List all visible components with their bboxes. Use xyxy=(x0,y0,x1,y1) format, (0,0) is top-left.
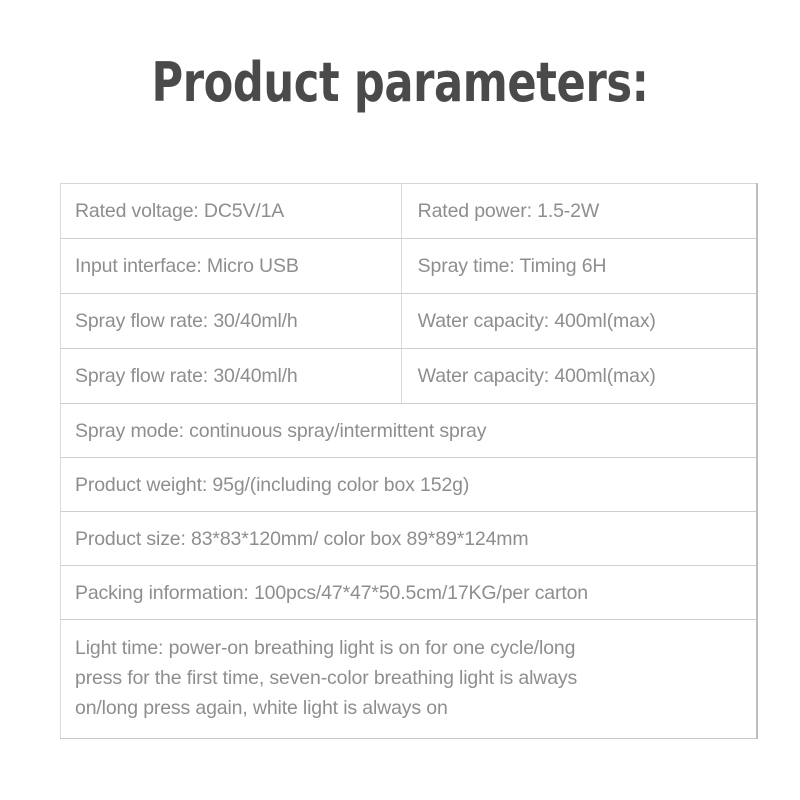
spec-cell-spray-time: Spray time: Timing 6H xyxy=(401,239,757,294)
spec-cell-water-capacity-2: Water capacity: 400ml(max) xyxy=(401,349,757,404)
table-row: Rated voltage: DC5V/1A Rated power: 1.5-… xyxy=(61,184,758,239)
specifications-table-body: Rated voltage: DC5V/1A Rated power: 1.5-… xyxy=(61,184,758,739)
table-row: Spray flow rate: 30/40ml/h Water capacit… xyxy=(61,349,758,404)
light-time-text: Light time: power-on breathing light is … xyxy=(75,633,742,723)
table-row: Product size: 83*83*120mm/ color box 89*… xyxy=(61,512,758,566)
specifications-table: Rated voltage: DC5V/1A Rated power: 1.5-… xyxy=(60,183,758,739)
spec-cell-spray-mode: Spray mode: continuous spray/intermitten… xyxy=(61,404,758,458)
spec-cell-water-capacity: Water capacity: 400ml(max) xyxy=(401,294,757,349)
spec-cell-packing-information: Packing information: 100pcs/47*47*50.5cm… xyxy=(61,566,758,620)
table-row: Product weight: 95g/(including color box… xyxy=(61,458,758,512)
table-row: Packing information: 100pcs/47*47*50.5cm… xyxy=(61,566,758,620)
spec-cell-spray-flow-rate-2: Spray flow rate: 30/40ml/h xyxy=(61,349,402,404)
spec-cell-rated-power: Rated power: 1.5-2W xyxy=(401,184,757,239)
light-time-line-3: on/long press again, white light is alwa… xyxy=(75,693,742,723)
table-row: Spray mode: continuous spray/intermitten… xyxy=(61,404,758,458)
product-parameters-page: Product parameters: Rated voltage: DC5V/… xyxy=(0,0,800,800)
light-time-line-2: press for the first time, seven-color br… xyxy=(75,663,742,693)
light-time-line-1: Light time: power-on breathing light is … xyxy=(75,633,742,663)
page-title: Product parameters: xyxy=(80,52,720,114)
spec-cell-input-interface: Input interface: Micro USB xyxy=(61,239,402,294)
table-row: Input interface: Micro USB Spray time: T… xyxy=(61,239,758,294)
table-row: Spray flow rate: 30/40ml/h Water capacit… xyxy=(61,294,758,349)
spec-cell-light-time: Light time: power-on breathing light is … xyxy=(61,620,758,739)
spec-cell-product-weight: Product weight: 95g/(including color box… xyxy=(61,458,758,512)
table-row: Light time: power-on breathing light is … xyxy=(61,620,758,739)
spec-cell-product-size: Product size: 83*83*120mm/ color box 89*… xyxy=(61,512,758,566)
spec-cell-spray-flow-rate: Spray flow rate: 30/40ml/h xyxy=(61,294,402,349)
spec-cell-rated-voltage: Rated voltage: DC5V/1A xyxy=(61,184,402,239)
